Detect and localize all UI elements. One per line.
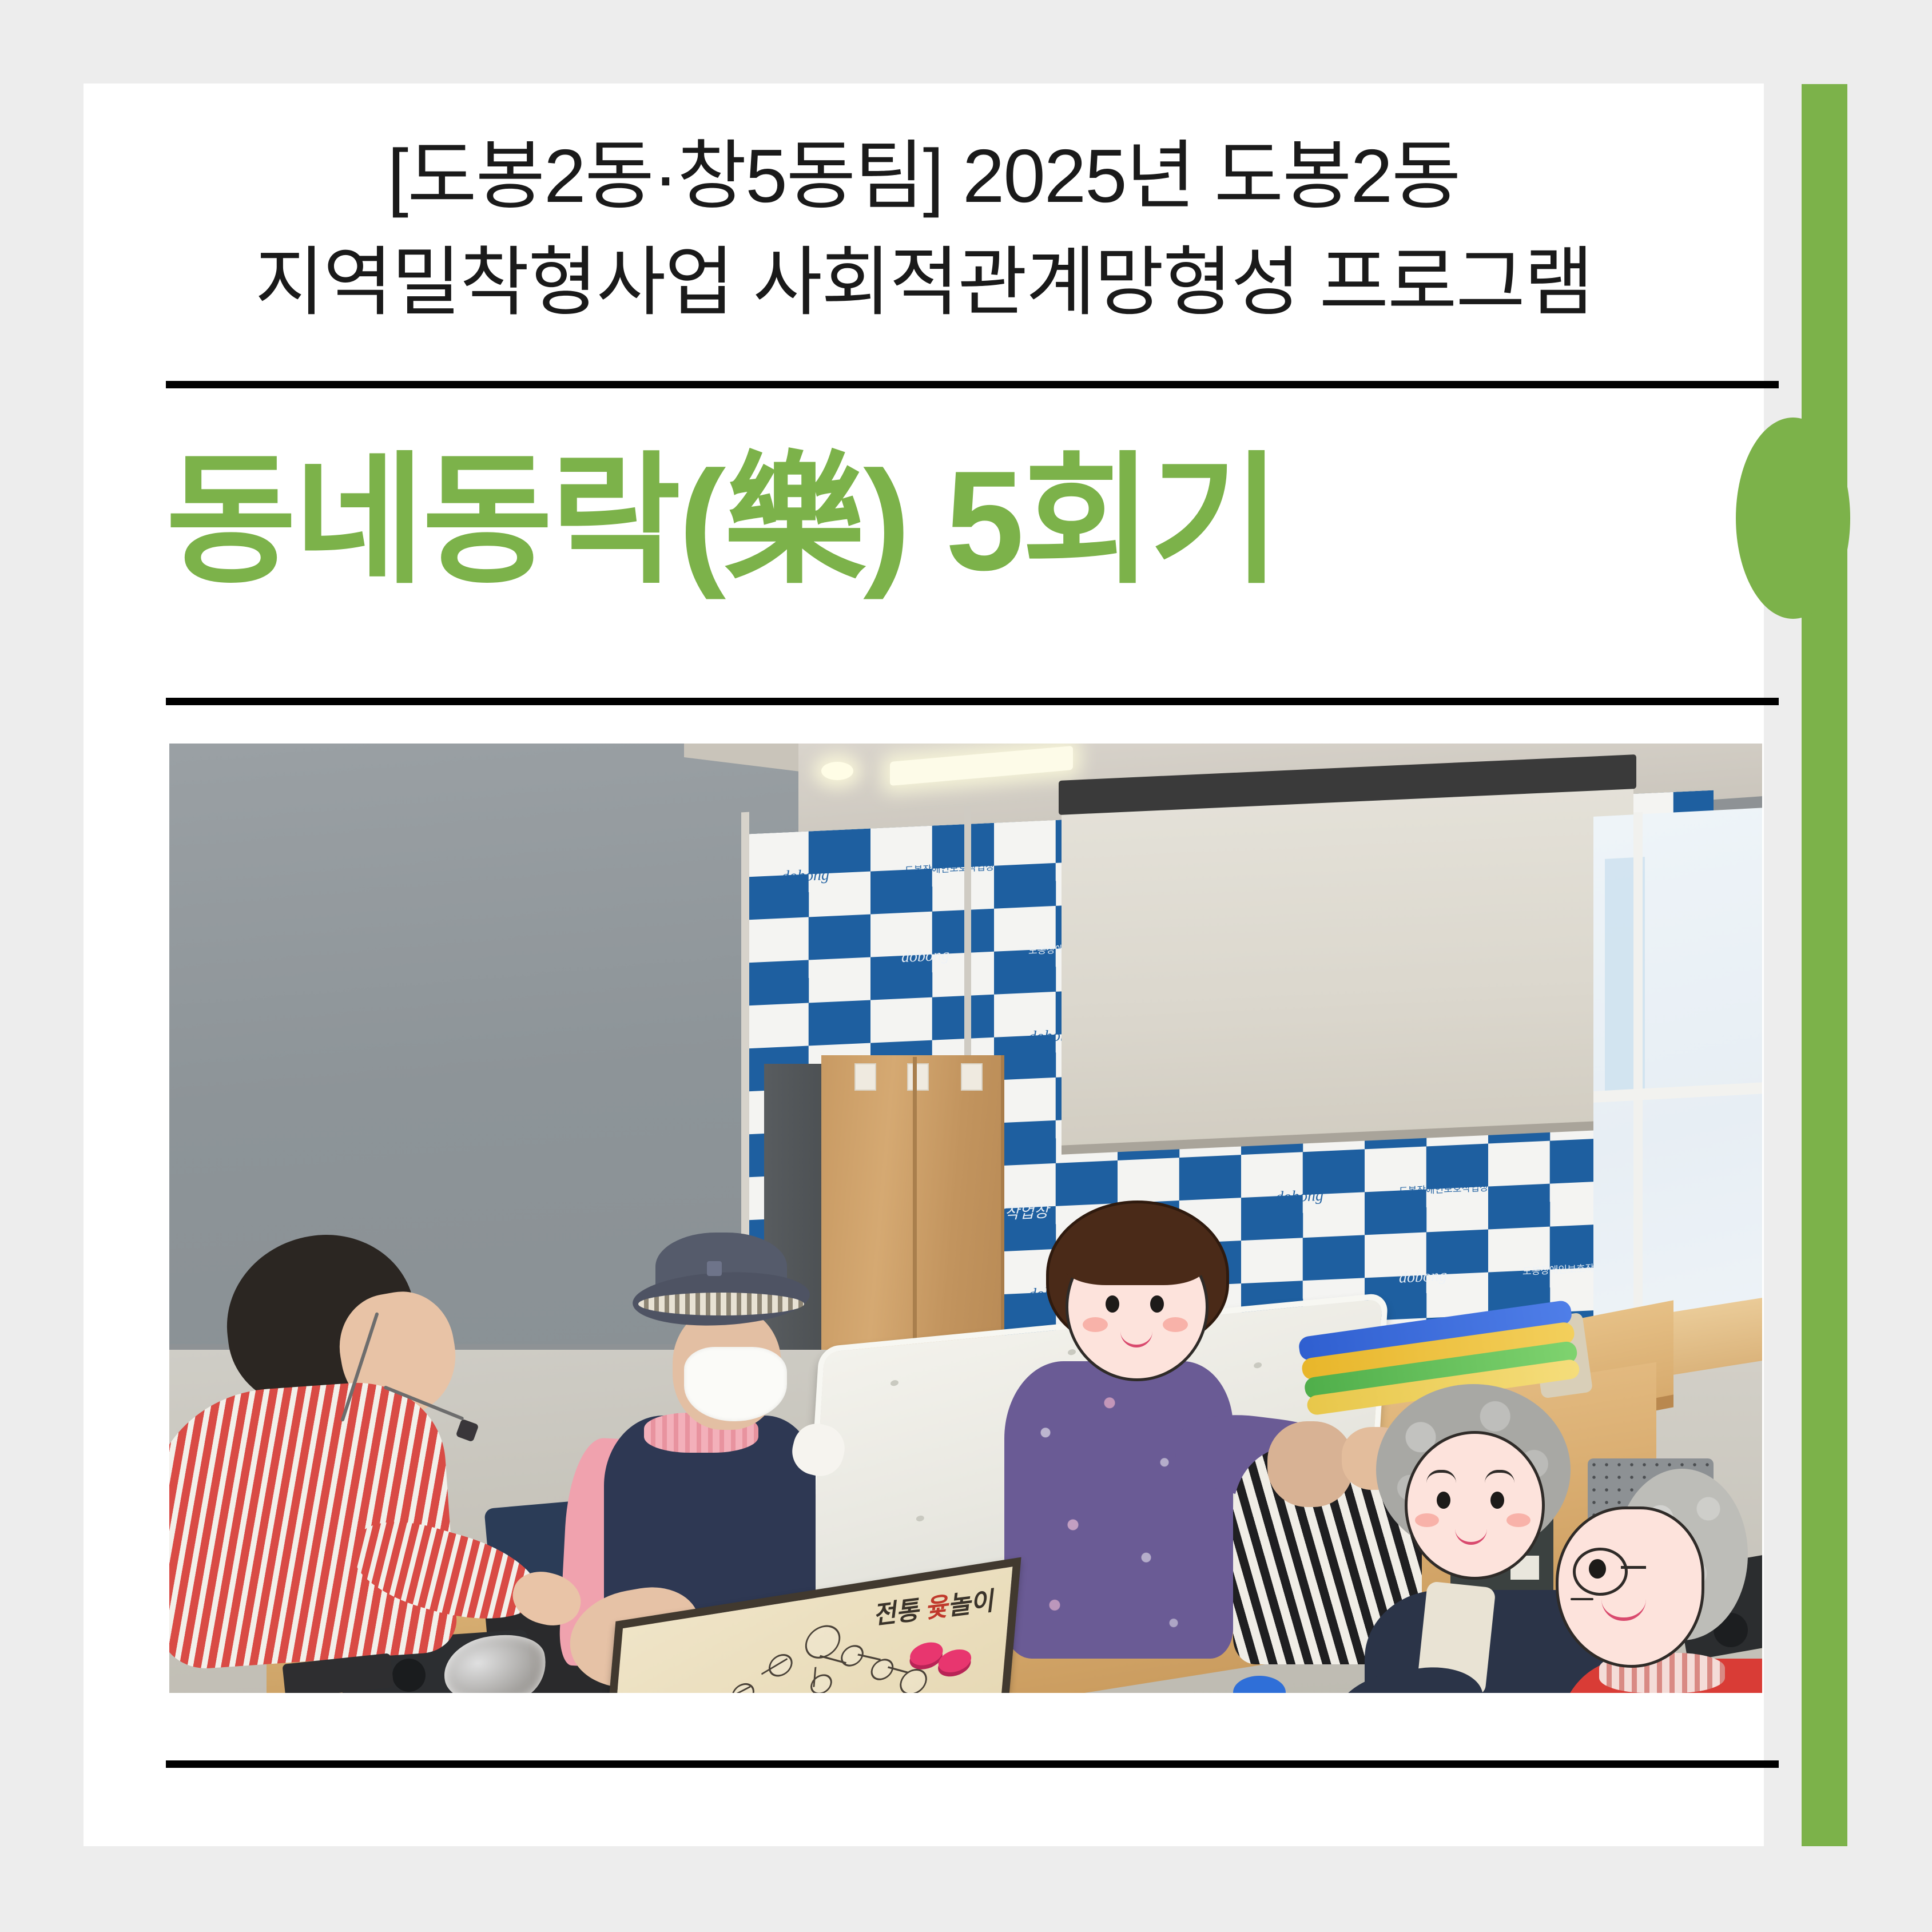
- board-node: [870, 1657, 895, 1681]
- bucket-hat-badge: [707, 1261, 722, 1276]
- eye-right: [1150, 1295, 1164, 1313]
- face-skin: [1556, 1506, 1704, 1668]
- cabinet-label: [854, 1063, 876, 1091]
- face-mask: [684, 1347, 787, 1421]
- eye-left: [1106, 1295, 1119, 1313]
- bucket-hat-trim: [638, 1293, 804, 1315]
- backdrop-logo: dobong: [1399, 1267, 1447, 1287]
- yut-board-title: 전통 윷놀이: [873, 1579, 997, 1632]
- face-skin: [1405, 1431, 1545, 1580]
- chair-wheel: [392, 1659, 426, 1692]
- green-accent-bulge: [1736, 418, 1850, 619]
- person-zebra-print-head: [1267, 1421, 1353, 1507]
- board-node: [768, 1652, 793, 1679]
- table-hole: [891, 1380, 899, 1386]
- backdrop-logo: dobong: [781, 866, 829, 887]
- ceiling-light-round: [821, 762, 853, 780]
- divider-middle: [166, 698, 1779, 705]
- table-hole: [916, 1515, 925, 1521]
- face-line: [1571, 1598, 1593, 1600]
- backdrop-logo: dobong: [901, 946, 949, 967]
- eye-left: [1437, 1492, 1450, 1509]
- cartoon-face-brown-bob: [1053, 1210, 1216, 1381]
- cheek-right: [1163, 1317, 1188, 1332]
- header-line-1: [도봉2동·창5동팀] 2025년 도봉2동: [84, 123, 1764, 229]
- divider-bottom: [166, 1760, 1779, 1768]
- cheek-left: [1083, 1317, 1108, 1332]
- projector-screen: [1062, 783, 1633, 1154]
- hair-fringe: [1063, 1222, 1206, 1285]
- cabinet-label: [961, 1063, 983, 1091]
- cartoon-face-glasses-grandma: [1553, 1476, 1742, 1676]
- divider-top: [166, 381, 1779, 388]
- activity-photo: dobong dobong 도봉장애인보호작업장 도봉장애인보호작업장 dobo…: [169, 744, 1762, 1693]
- glasses-bridge: [1621, 1566, 1646, 1569]
- table-hole: [1254, 1362, 1262, 1368]
- page-title: 동네동락(樂) 5회기: [166, 435, 1710, 606]
- floral-pattern-overlay: [1004, 1361, 1233, 1659]
- cheek-right: [1506, 1513, 1531, 1527]
- cartoon-face-grey-curls: [1382, 1390, 1565, 1584]
- backdrop-logo: dobong: [1275, 1187, 1323, 1207]
- header: [도봉2동·창5동팀] 2025년 도봉2동 지역밀착형사업 사회적관계망형성 …: [84, 123, 1764, 336]
- cabinet-seam: [913, 1057, 917, 1357]
- header-line-2: 지역밀착형사업 사회적관계망형성 프로그램: [84, 229, 1764, 336]
- eye-left: [1589, 1559, 1606, 1579]
- cabinet-label: [907, 1063, 929, 1091]
- cheek-left: [1415, 1513, 1439, 1527]
- green-accent-bar: [1802, 84, 1847, 1846]
- eye-right: [1490, 1492, 1504, 1509]
